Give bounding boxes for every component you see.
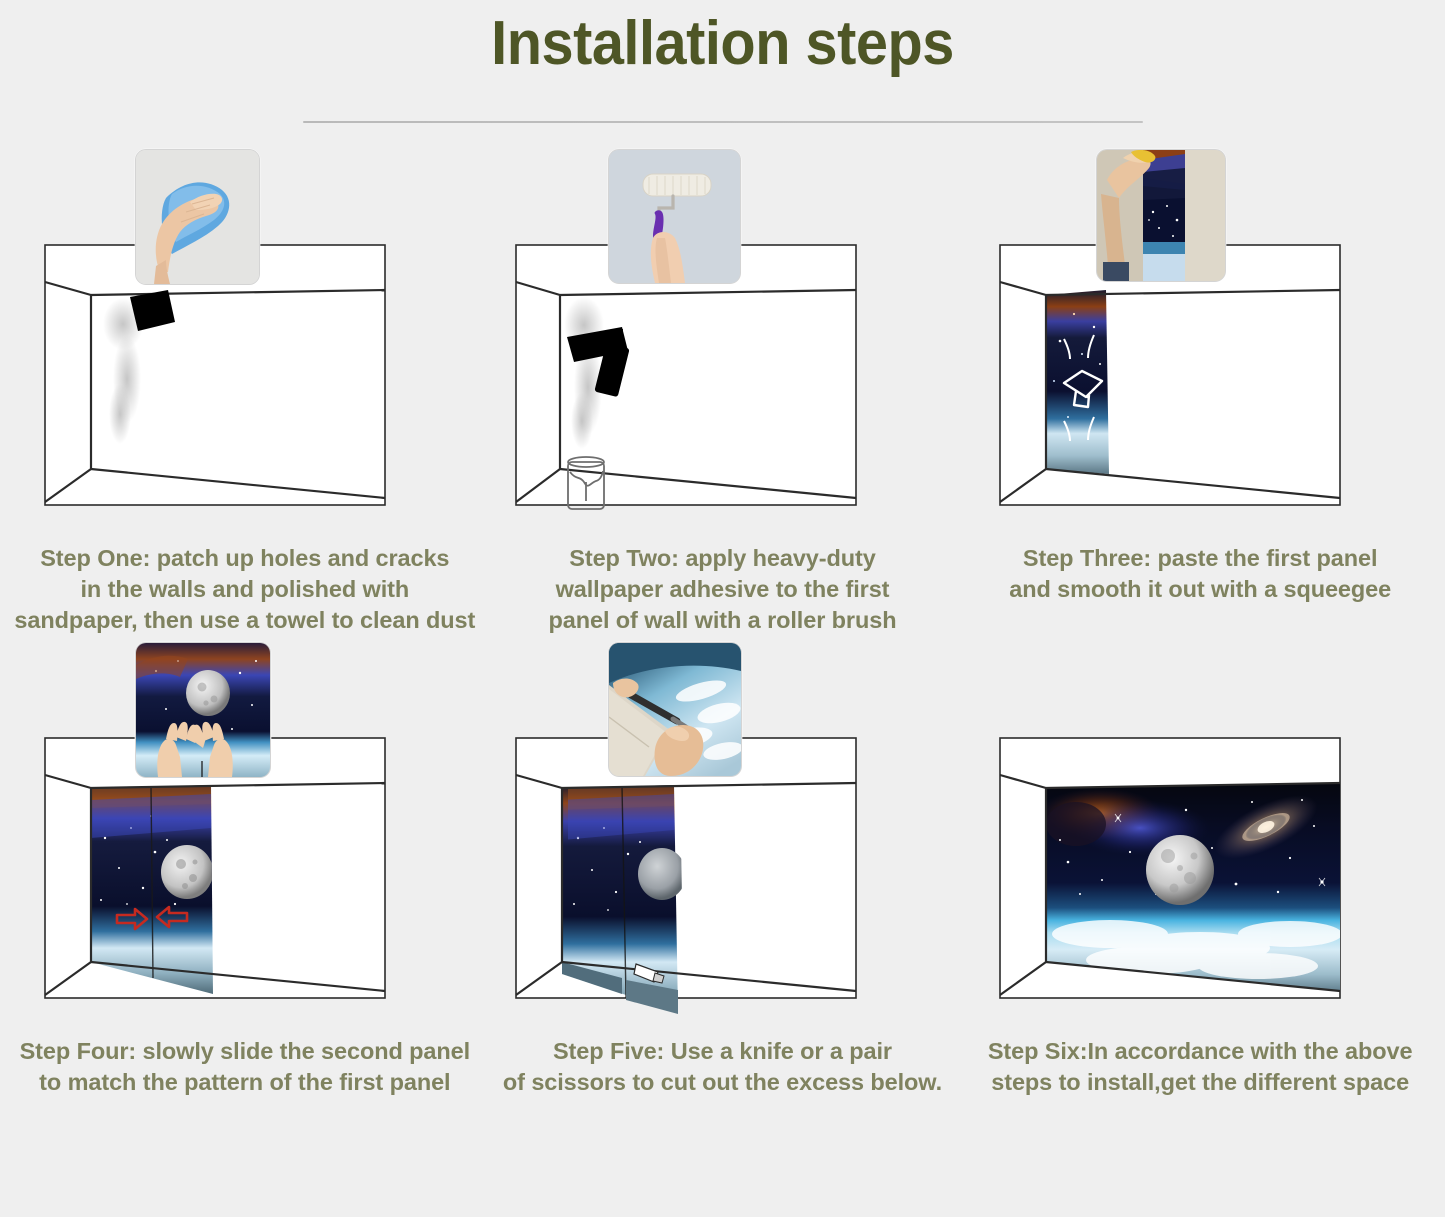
step-card-three: Step Three: paste the first panel and sm… — [963, 149, 1437, 636]
step-one-caption: Step One: patch up holes and cracks in t… — [10, 543, 480, 636]
smoothing-wallpaper-photo — [1097, 150, 1225, 281]
steps-grid: Step One: patch up holes and cracks in t… — [0, 123, 1445, 1098]
step-two-scene — [512, 149, 932, 539]
step-card-four: Step Four: slowly slide the second panel… — [8, 642, 482, 1098]
two-wallpaper-panels — [91, 785, 213, 994]
step-three-caption: Step Three: paste the first panel and sm… — [980, 543, 1420, 605]
step-six-caption: Step Six:In accordance with the above st… — [965, 1036, 1435, 1098]
step-five-scene — [512, 642, 932, 1032]
page-title: Installation steps — [51, 0, 1395, 79]
step-three-inset-photo — [1096, 149, 1226, 282]
step-four-caption: Step Four: slowly slide the second panel… — [10, 1036, 480, 1098]
step-one-inset-photo — [135, 149, 260, 285]
step-card-two: Step Two: apply heavy-duty wallpaper adh… — [486, 149, 960, 636]
step-six-scene — [990, 642, 1410, 1032]
cutting-wallpaper-photo — [609, 643, 741, 776]
step-four-inset-photo — [135, 642, 271, 778]
step-five-caption: Step Five: Use a knife or a pair of scis… — [487, 1036, 957, 1098]
step-three-scene — [990, 149, 1410, 539]
panels-with-excess — [562, 785, 686, 1014]
installation-steps-page: Installation steps — [0, 0, 1445, 1217]
step-two-inset-photo — [608, 149, 741, 284]
step-card-one: Step One: patch up holes and cracks in t… — [8, 149, 482, 636]
step-five-inset-photo — [608, 642, 742, 777]
room-wireframe-six — [990, 642, 1410, 1032]
step-two-caption: Step Two: apply heavy-duty wallpaper adh… — [502, 543, 942, 636]
step-card-six: Step Six:In accordance with the above st… — [963, 642, 1437, 1098]
hands-aligning-panels-photo — [136, 643, 270, 777]
hand-wiping-wall-photo — [136, 150, 259, 284]
paint-roller-photo — [609, 150, 740, 283]
step-four-scene — [35, 642, 455, 1032]
finished-space-mural — [1038, 783, 1342, 991]
step-one-scene — [35, 149, 455, 539]
step-card-five: Step Five: Use a knife or a pair of scis… — [486, 642, 960, 1098]
